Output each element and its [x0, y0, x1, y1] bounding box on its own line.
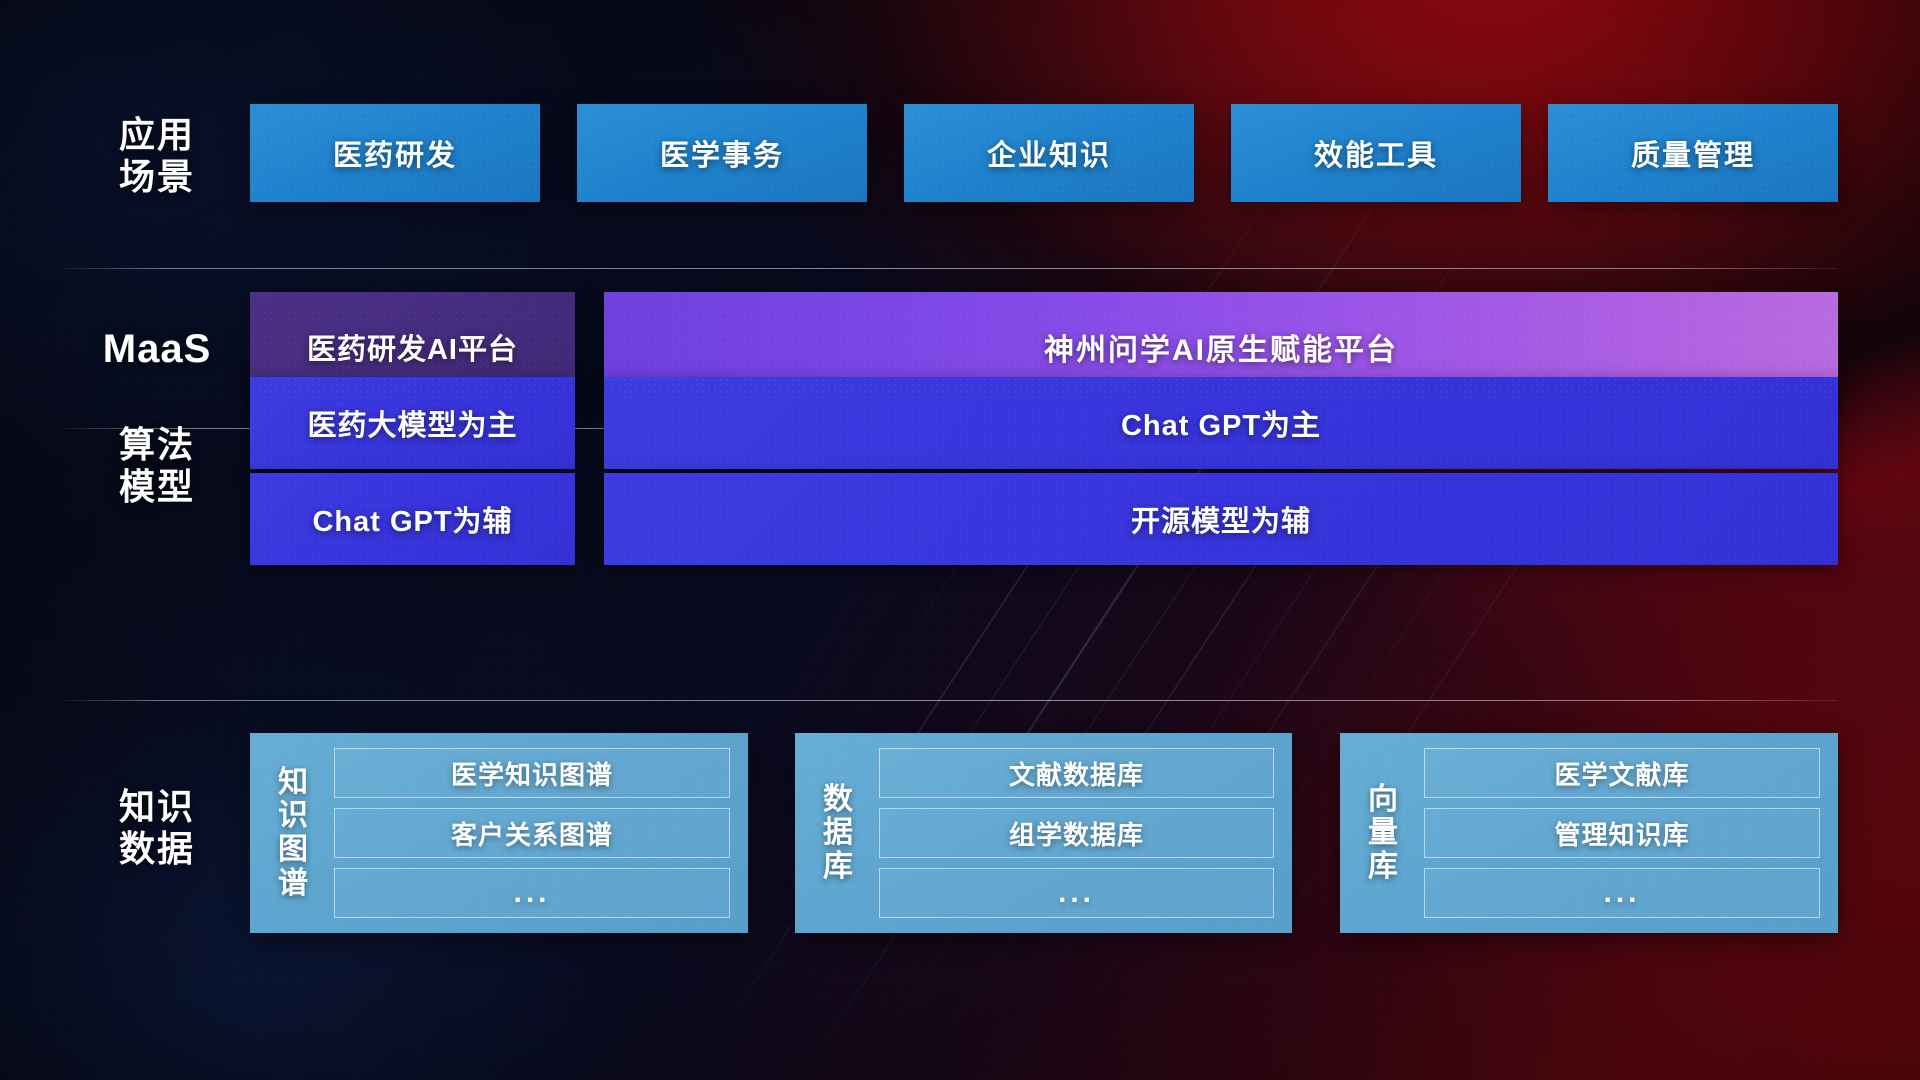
knowledge-panel-database[interactable]: 数据库 文献数据库 组学数据库 ...	[795, 733, 1292, 933]
app-box-label: 效能工具	[1314, 132, 1438, 174]
knowledge-item-more[interactable]: ...	[1424, 868, 1820, 918]
knowledge-panel-items: 医学知识图谱 客户关系图谱 ...	[334, 748, 730, 918]
row-label-application-line1: 应用	[62, 114, 252, 156]
row-label-algorithm-line1: 算法	[62, 424, 252, 466]
row-separator-3	[62, 700, 1838, 701]
knowledge-panel-items: 文献数据库 组学数据库 ...	[879, 748, 1274, 918]
app-box-label: 质量管理	[1631, 132, 1755, 174]
row-label-application-line2: 场景	[62, 156, 252, 198]
row-label-knowledge: 知识 数据	[62, 786, 252, 871]
algorithm-box-chatgpt-secondary[interactable]: Chat GPT为辅	[250, 473, 575, 565]
architecture-diagram: 应用 场景 医药研发 医学事务 企业知识 效能工具 质量管理 MaaS 医药研发…	[0, 0, 1920, 1080]
app-box-label: 医学事务	[660, 132, 784, 174]
algorithm-box-label: Chat GPT为辅	[312, 498, 512, 540]
maas-box-label: 医药研发AI平台	[307, 326, 518, 368]
knowledge-panel-knowledge-graph[interactable]: 知识图谱 医学知识图谱 客户关系图谱 ...	[250, 733, 748, 933]
row-label-maas: MaaS	[62, 326, 252, 373]
knowledge-item-more[interactable]: ...	[334, 868, 730, 918]
knowledge-item[interactable]: 管理知识库	[1424, 808, 1820, 858]
knowledge-item[interactable]: 医学知识图谱	[334, 748, 730, 798]
row-label-algorithm: 算法 模型	[62, 424, 252, 509]
app-box-efficiency-tools[interactable]: 效能工具	[1231, 104, 1521, 202]
knowledge-panel-vector-store[interactable]: 向量库 医学文献库 管理知识库 ...	[1340, 733, 1838, 933]
app-box-drug-rd[interactable]: 医药研发	[250, 104, 540, 202]
knowledge-panel-category-label: 数据库	[809, 783, 867, 884]
algorithm-box-label: 医药大模型为主	[307, 402, 517, 444]
knowledge-item[interactable]: 文献数据库	[879, 748, 1274, 798]
algorithm-box-label: 开源模型为辅	[1131, 498, 1311, 540]
row-separator-1	[62, 268, 1838, 269]
knowledge-panel-items: 医学文献库 管理知识库 ...	[1424, 748, 1820, 918]
algorithm-box-pharma-llm-primary[interactable]: 医药大模型为主	[250, 377, 575, 469]
app-box-label: 企业知识	[987, 132, 1111, 174]
algorithm-box-label: Chat GPT为主	[1121, 402, 1321, 444]
knowledge-item[interactable]: 组学数据库	[879, 808, 1274, 858]
row-label-algorithm-line2: 模型	[62, 466, 252, 508]
row-label-application: 应用 场景	[62, 114, 252, 199]
row-label-knowledge-line2: 数据	[62, 828, 252, 870]
algorithm-box-opensource-secondary[interactable]: 开源模型为辅	[604, 473, 1838, 565]
algorithm-box-chatgpt-primary[interactable]: Chat GPT为主	[604, 377, 1838, 469]
knowledge-panel-category-label: 向量库	[1354, 783, 1412, 884]
maas-box-label: 神州问学AI原生赋能平台	[1044, 325, 1398, 369]
app-box-label: 医药研发	[333, 132, 457, 174]
knowledge-panel-category-label: 知识图谱	[264, 766, 322, 900]
app-box-quality-management[interactable]: 质量管理	[1548, 104, 1838, 202]
app-box-enterprise-knowledge[interactable]: 企业知识	[904, 104, 1194, 202]
knowledge-item-more[interactable]: ...	[879, 868, 1274, 918]
app-box-medical-affairs[interactable]: 医学事务	[577, 104, 867, 202]
row-label-knowledge-line1: 知识	[62, 786, 252, 828]
knowledge-item[interactable]: 医学文献库	[1424, 748, 1820, 798]
knowledge-item[interactable]: 客户关系图谱	[334, 808, 730, 858]
